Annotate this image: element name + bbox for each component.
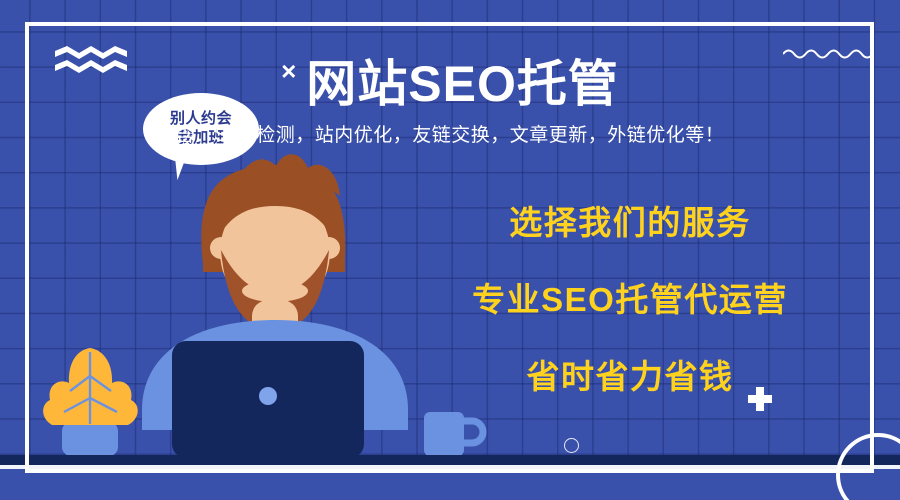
slogan-line-2: 专业SEO托管代运营	[430, 273, 830, 321]
title-text: 网站SEO托管	[306, 56, 619, 112]
small-circle-icon	[564, 438, 579, 453]
subtitle-text: 含：SEO检测，站内优化，友链交换，文章更新，外链优化等！	[0, 120, 900, 147]
page-title: ×网站SEO托管	[0, 44, 900, 116]
slogan-line-1: 选择我们的服务	[430, 196, 830, 244]
title-bullet-icon: ×	[281, 56, 296, 86]
slogan-line-3: 省时省力省钱	[430, 350, 830, 398]
seo-promo-banner: 别人约会 我加班 ×网站SEO托管 含：SEO检测，站内优化，友链交换，文章更新…	[0, 0, 900, 500]
slogan-list: 选择我们的服务 专业SEO托管代运营 省时省力省钱	[430, 196, 830, 398]
desk-front	[0, 469, 900, 500]
